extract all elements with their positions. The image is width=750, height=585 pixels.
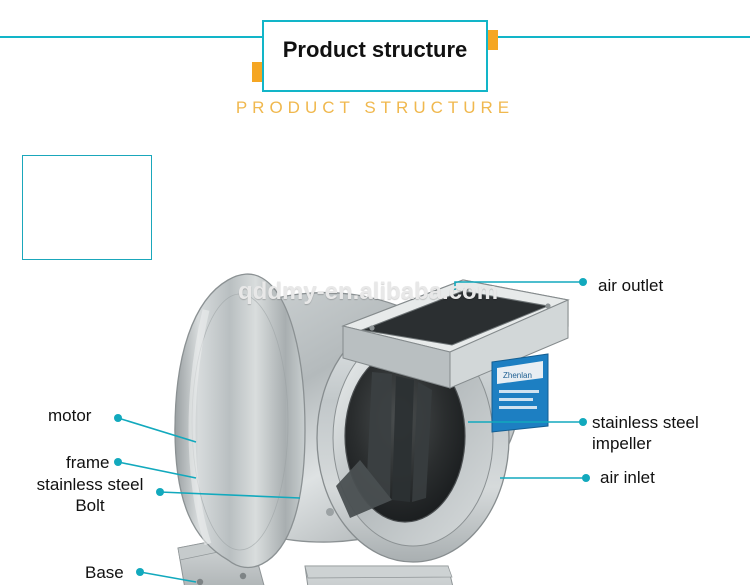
page-title: Product structure <box>262 37 488 63</box>
product-structure-page: Product structure PRODUCT STRUCTURE <box>0 0 750 585</box>
callout-label-stainless-bolt: stainless steel Bolt <box>16 474 164 516</box>
page-header: Product structure PRODUCT STRUCTURE <box>0 0 750 130</box>
callout-label-air-outlet: air outlet <box>598 275 663 296</box>
callout-label-frame: frame <box>66 452 109 473</box>
nameplate: Zhenlan <box>492 354 548 432</box>
bolt-line-2: Bolt <box>16 495 164 516</box>
impeller-line-2: impeller <box>592 433 699 454</box>
callout-label-motor: motor <box>48 405 91 426</box>
callout-label-base: Base <box>85 562 124 583</box>
bolt-line-1: stainless steel <box>16 474 164 495</box>
impeller-line-1: stainless steel <box>592 412 699 433</box>
diagram-stage: Zhenlan <box>0 130 750 585</box>
callout-label-air-inlet: air inlet <box>600 467 655 488</box>
svg-text:Zhenlan: Zhenlan <box>503 371 532 380</box>
callout-label-stainless-impeller: stainless steel impeller <box>592 412 699 454</box>
motor-inset-frame <box>22 155 152 260</box>
page-subtitle: PRODUCT STRUCTURE <box>230 98 520 118</box>
